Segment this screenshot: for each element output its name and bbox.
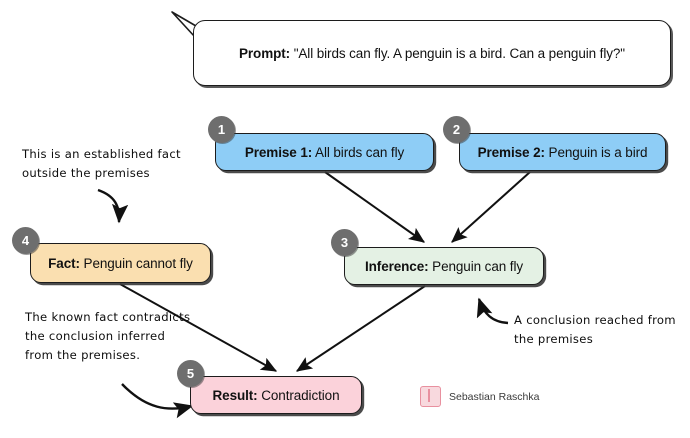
annotation-contradiction: The known fact contradicts the conclusio…	[25, 308, 195, 365]
badge-3: 3	[331, 229, 358, 256]
node-result-label: Result:	[213, 388, 258, 403]
node-premise-2[interactable]: Premise 2: Penguin is a bird	[459, 133, 666, 171]
diagram-canvas: Prompt: "All birds can fly. A penguin is…	[0, 0, 690, 438]
annotation-conclusion: A conclusion reached from the premises	[514, 311, 679, 349]
badge-1: 1	[208, 116, 235, 143]
annotation-arrow-inference	[479, 299, 508, 323]
signature-watermark: Sebastian Raschka	[420, 386, 539, 407]
book-icon	[420, 386, 441, 407]
node-inference[interactable]: Inference: Penguin can fly	[344, 247, 544, 285]
edge-premise2-inference	[452, 172, 530, 242]
node-result-body: Contradiction	[258, 388, 340, 403]
node-premise-1-text: Premise 1: All birds can fly	[245, 145, 404, 160]
node-fact-text: Fact: Penguin cannot fly	[48, 256, 193, 271]
node-result-text: Result: Contradiction	[213, 388, 340, 403]
node-result[interactable]: Result: Contradiction	[190, 376, 362, 414]
node-inference-body: Penguin can fly	[429, 259, 523, 274]
node-fact-body: Penguin cannot fly	[80, 256, 193, 271]
node-premise-1-body: All birds can fly	[312, 145, 404, 160]
edge-inference-result	[297, 286, 425, 371]
node-premise-2-body: Penguin is a bird	[545, 145, 648, 160]
badge-2: 2	[443, 116, 470, 143]
prompt-bubble: Prompt: "All birds can fly. A penguin is…	[193, 20, 671, 86]
annotation-arrow-result	[122, 384, 192, 409]
node-premise-2-label: Premise 2:	[478, 145, 545, 160]
node-inference-label: Inference:	[365, 259, 429, 274]
node-inference-text: Inference: Penguin can fly	[365, 259, 523, 274]
node-fact[interactable]: Fact: Penguin cannot fly	[30, 243, 211, 283]
node-fact-label: Fact:	[48, 256, 80, 271]
annotation-arrow-fact	[98, 190, 119, 222]
badge-4: 4	[12, 227, 39, 254]
prompt-label: Prompt:	[239, 46, 290, 61]
badge-5: 5	[177, 360, 204, 387]
prompt-body: "All birds can fly. A penguin is a bird.…	[290, 46, 625, 61]
node-premise-2-text: Premise 2: Penguin is a bird	[478, 145, 648, 160]
signature-name: Sebastian Raschka	[449, 391, 539, 403]
node-premise-1[interactable]: Premise 1: All birds can fly	[215, 133, 434, 171]
annotation-fact: This is an established fact outside the …	[22, 145, 197, 183]
prompt-text: Prompt: "All birds can fly. A penguin is…	[239, 46, 625, 61]
node-premise-1-label: Premise 1:	[245, 145, 312, 160]
